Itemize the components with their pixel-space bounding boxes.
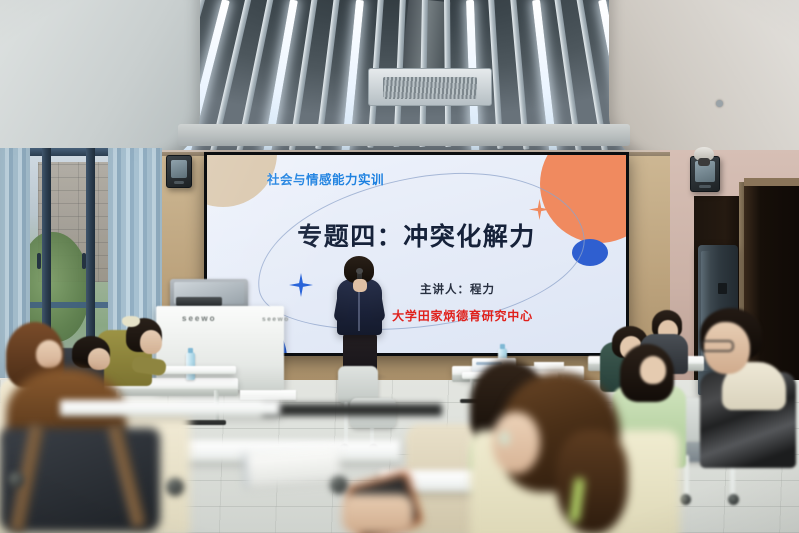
wall-speaker-left [166, 155, 192, 188]
ac-vent [368, 68, 492, 106]
hand-holding-phone [342, 494, 414, 533]
podium-device [176, 297, 222, 306]
podium-brand-label-side: seewo [262, 316, 290, 323]
desk-caster [330, 476, 348, 494]
slide-presenter: 主讲人：程力 [207, 281, 626, 297]
chair-caster [680, 494, 691, 505]
glasses-icon [700, 340, 734, 352]
student-head [140, 330, 162, 354]
ceiling-soffit-left [0, 0, 200, 160]
cabinet-panel [718, 283, 727, 294]
ceiling-beam [178, 124, 630, 146]
chair-caster [728, 494, 739, 505]
window-handle[interactable] [37, 253, 41, 269]
student-head [36, 340, 62, 368]
paper-sheet [240, 390, 296, 400]
sprinkler-head-icon [716, 100, 723, 107]
podium-brand-label: seewo [182, 314, 216, 323]
student-hair-tie [122, 316, 140, 327]
earbud-icon [500, 432, 509, 445]
ceiling-soffit-right [609, 0, 799, 160]
desk-crossbar [262, 404, 442, 416]
presenter-hands [353, 279, 367, 292]
window-handle[interactable] [82, 253, 86, 269]
ceiling-camera-icon [694, 147, 714, 161]
student-head [88, 348, 110, 370]
student-head [640, 356, 666, 384]
notebook [243, 447, 341, 488]
student-head [492, 412, 540, 474]
student-ponytail [556, 430, 628, 533]
classroom-photo: 社会与情感能力实训 专题四：冲突化解力 主讲人：程力 大学田家炳德育研究中心 德… [0, 0, 799, 533]
slide-kicker-text: 社会与情感能力实训 [267, 169, 384, 188]
paper-sheet [534, 362, 564, 369]
desk-caster [166, 478, 184, 496]
ceiling [0, 0, 799, 160]
desk-caster [8, 472, 24, 488]
desk-foreground-far-left [60, 400, 280, 416]
slide-title: 专题四：冲突化解力 [207, 217, 626, 253]
